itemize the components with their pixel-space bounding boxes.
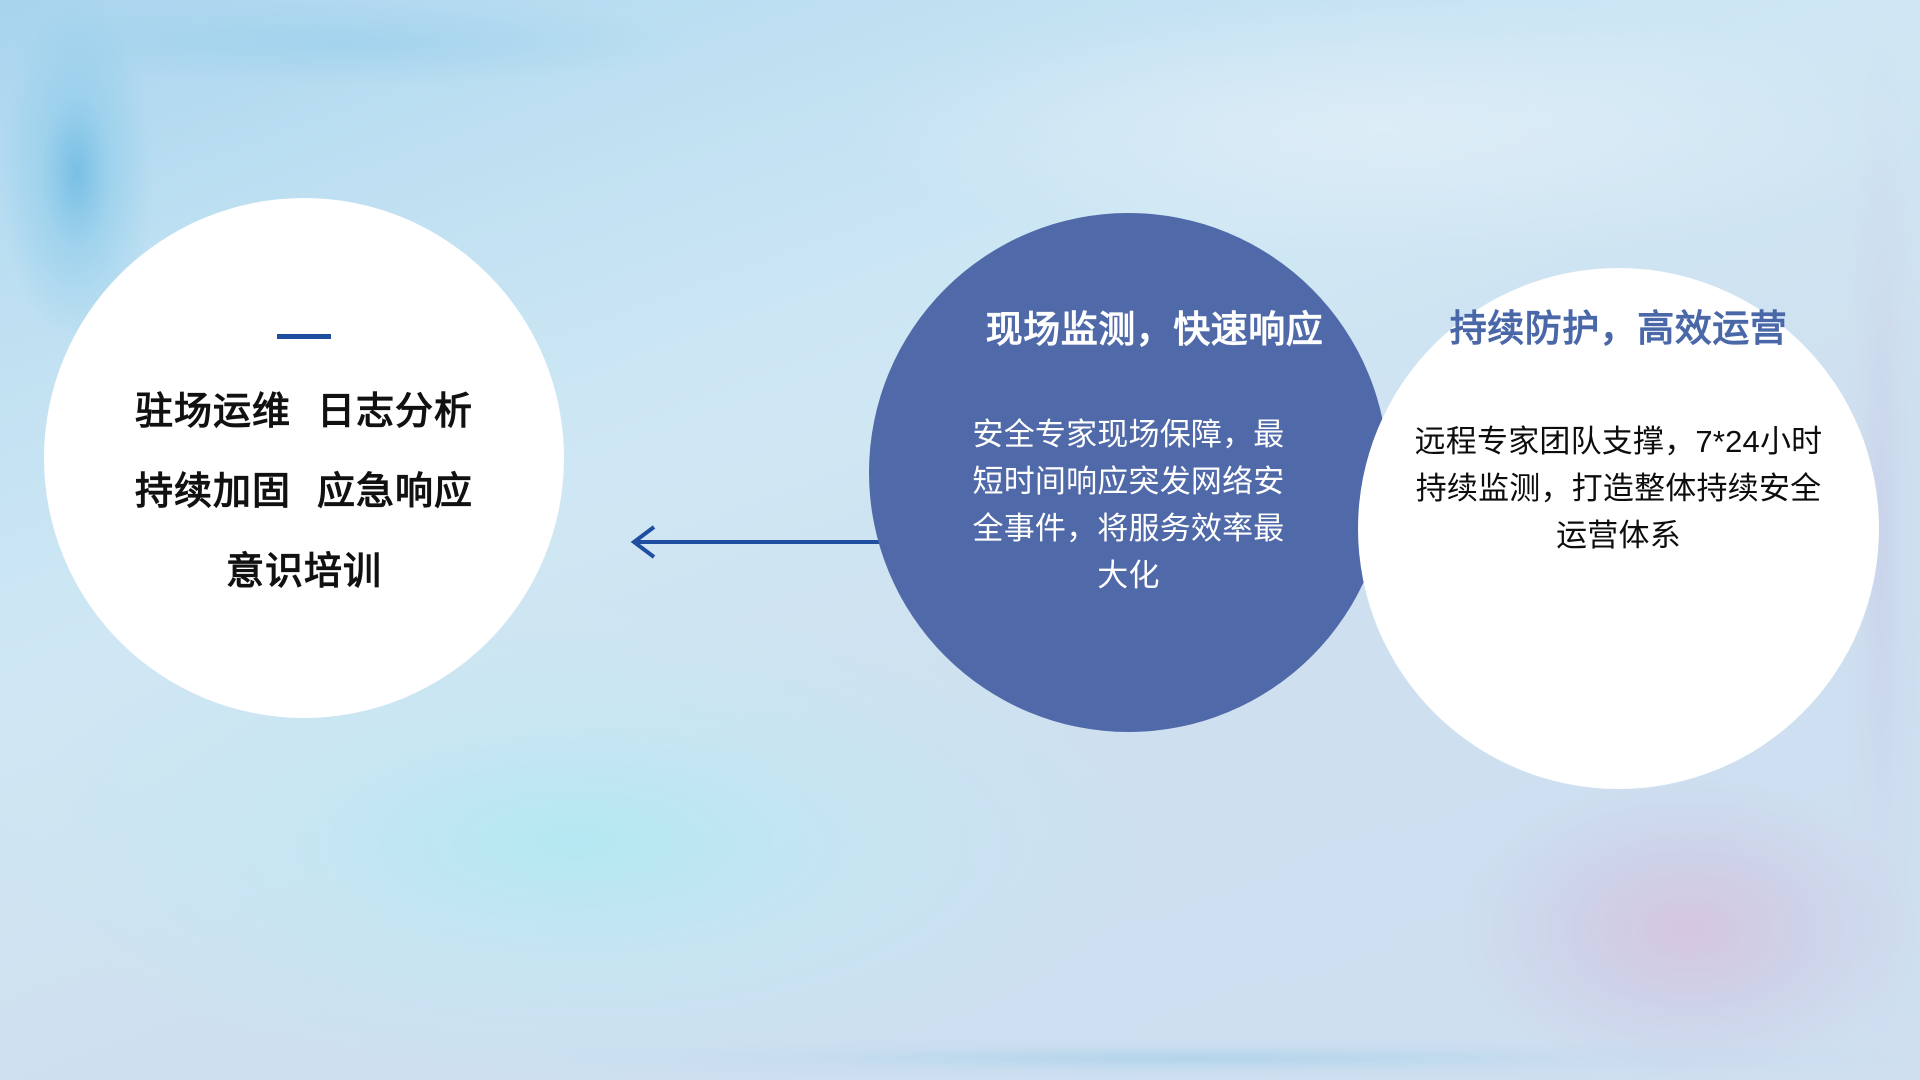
- capability-label-awareness-training: 意识培训: [226, 551, 382, 593]
- accent-divider-rule: [277, 334, 331, 339]
- middle-onsite-monitoring-circle: 现场监测，快速响应 安全专家现场保障，最短时间响应突发网络安全事件，将服务效率最…: [869, 213, 1388, 732]
- right-circle-content: 持续防护，高效运营 远程专家团队支撑，7*24小时持续监测，打造整体持续安全运营…: [1358, 268, 1879, 789]
- capability-row-2: 持续加固应急响应: [135, 473, 473, 511]
- right-circle-body-text: 远程专家团队支撑，7*24小时持续监测，打造整体持续安全运营体系: [1413, 418, 1825, 559]
- right-circle-heading: 持续防护，高效运营: [1450, 298, 1788, 352]
- capability-row-3: 意识培训: [226, 553, 382, 591]
- middle-circle-content: 现场监测，快速响应 安全专家现场保障，最短时间响应突发网络安全事件，将服务效率最…: [869, 213, 1388, 732]
- left-capabilities-circle: 驻场运维日志分析 持续加固应急响应 意识培训: [44, 198, 564, 718]
- left-circle-content: 驻场运维日志分析 持续加固应急响应 意识培训: [44, 198, 564, 718]
- right-continuous-protection-circle: 持续防护，高效运营 远程专家团队支撑，7*24小时持续监测，打造整体持续安全运营…: [1358, 268, 1879, 789]
- capability-label-continuous-hardening: 持续加固: [135, 471, 291, 513]
- middle-circle-body-text: 安全专家现场保障，最短时间响应突发网络安全事件，将服务效率最大化: [960, 411, 1298, 599]
- capability-label-emergency-response: 应急响应: [317, 471, 473, 513]
- middle-circle-heading: 现场监测，快速响应: [986, 299, 1324, 353]
- capability-row-1: 驻场运维日志分析: [135, 393, 473, 431]
- capability-label-onsite-ops: 驻场运维: [135, 391, 291, 433]
- capability-label-log-analysis: 日志分析: [317, 391, 473, 433]
- slide-canvas: 驻场运维日志分析 持续加固应急响应 意识培训 现场监测，快速响应 安全专家现场保…: [0, 0, 1920, 1080]
- left-pointing-arrow-icon: [608, 524, 900, 560]
